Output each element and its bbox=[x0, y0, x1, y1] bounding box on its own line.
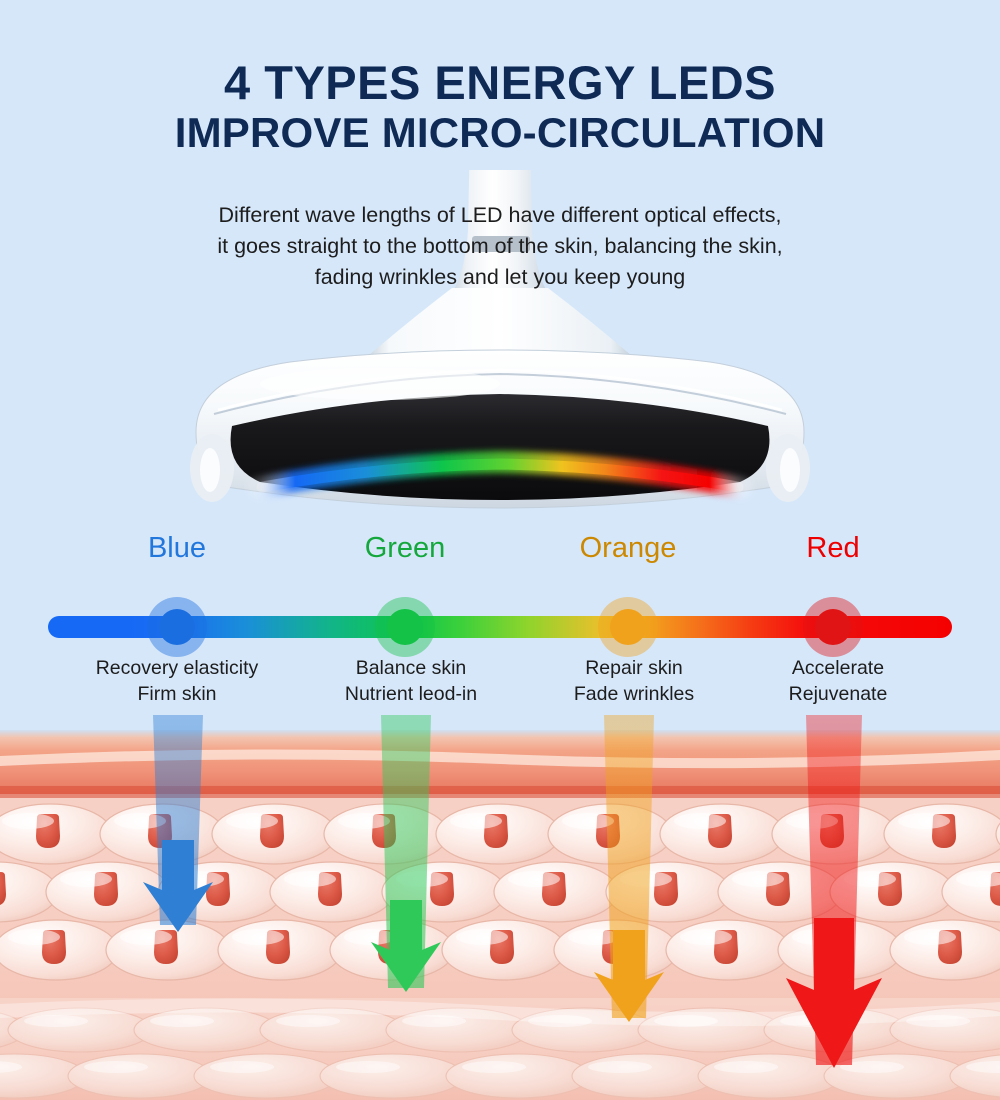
description-block: Different wave lengths of LED have diffe… bbox=[0, 200, 1000, 294]
led-dot-orange[interactable] bbox=[610, 609, 646, 645]
device-tip-right-gloss bbox=[780, 448, 800, 492]
arrow-red bbox=[786, 918, 882, 1068]
light-beams bbox=[0, 700, 1000, 1100]
arrow-green bbox=[371, 900, 441, 992]
description-line-1: Different wave lengths of LED have diffe… bbox=[0, 200, 1000, 231]
led-benefit-green: Balance skin Nutrient leod-in bbox=[286, 656, 536, 707]
led-label-orange: Orange bbox=[528, 528, 728, 568]
led-dot-blue[interactable] bbox=[159, 609, 195, 645]
title-line-1: 4 TYPES ENERGY LEDS bbox=[0, 58, 1000, 108]
beam-blue bbox=[143, 715, 213, 932]
led-benefit-red: Accelerate Rejuvenate bbox=[713, 656, 963, 707]
infographic-page: 4 TYPES ENERGY LEDS IMPROVE MICRO-CIRCUL… bbox=[0, 0, 1000, 1100]
arrow-orange bbox=[594, 930, 664, 1022]
led-dot-green[interactable] bbox=[387, 609, 423, 645]
benefit-blue-line-1: Recovery elasticity bbox=[52, 656, 302, 682]
page-title: 4 TYPES ENERGY LEDS IMPROVE MICRO-CIRCUL… bbox=[0, 58, 1000, 157]
led-label-green: Green bbox=[305, 528, 505, 568]
title-line-2: IMPROVE MICRO-CIRCULATION bbox=[0, 108, 1000, 158]
benefit-green-line-1: Balance skin bbox=[286, 656, 536, 682]
beam-red bbox=[786, 715, 882, 1068]
benefit-red-line-2: Rejuvenate bbox=[713, 682, 963, 708]
benefit-green-line-2: Nutrient leod-in bbox=[286, 682, 536, 708]
device-body-gloss bbox=[260, 368, 500, 400]
description-line-2: it goes straight to the bottom of the sk… bbox=[0, 231, 1000, 262]
benefit-blue-line-2: Firm skin bbox=[52, 682, 302, 708]
led-dot-red[interactable] bbox=[815, 609, 851, 645]
led-benefit-blue: Recovery elasticity Firm skin bbox=[52, 656, 302, 707]
device-neck bbox=[368, 288, 632, 356]
led-spectrum-section: Blue Green Orange Red Recovery elasticit… bbox=[0, 528, 1000, 718]
benefit-red-line-1: Accelerate bbox=[713, 656, 963, 682]
description-line-3: fading wrinkles and let you keep young bbox=[0, 262, 1000, 293]
device-tip-left-gloss bbox=[200, 448, 220, 492]
beam-green bbox=[371, 715, 441, 992]
led-label-red: Red bbox=[733, 528, 933, 568]
arrow-blue bbox=[143, 840, 213, 932]
beam-orange bbox=[594, 715, 664, 1022]
led-label-blue: Blue bbox=[77, 528, 277, 568]
